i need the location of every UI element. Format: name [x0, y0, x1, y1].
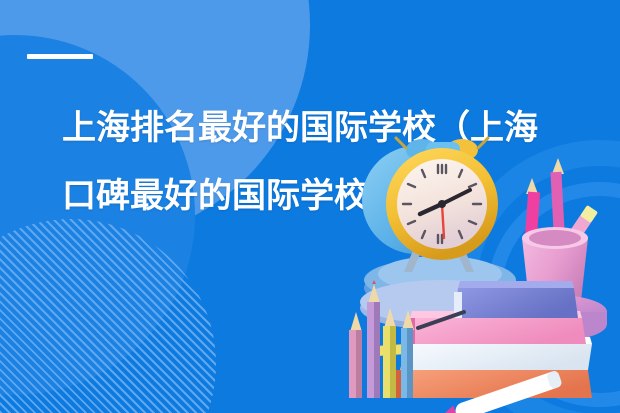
- colored-pencil-pink: [349, 312, 362, 398]
- study-supplies-illustration: [330, 132, 620, 413]
- article-banner: 上海排名最好的国际学校（上海 口碑最好的国际学校）: [0, 0, 620, 413]
- accent-dash: [27, 54, 93, 59]
- alarm-clock: [362, 138, 498, 272]
